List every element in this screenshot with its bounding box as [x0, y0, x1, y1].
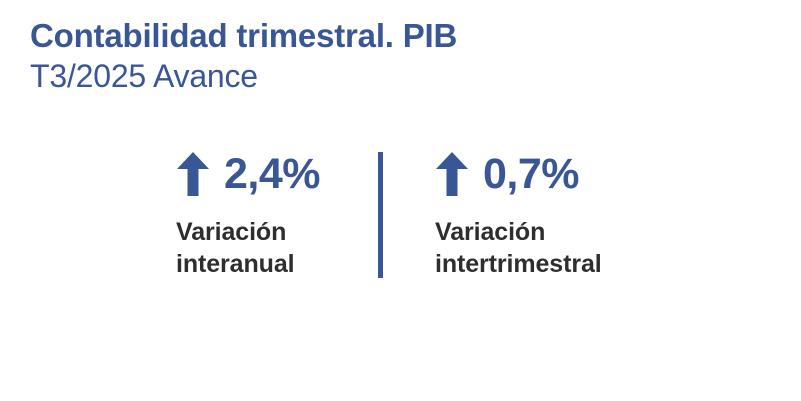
- infographic-page: Contabilidad trimestral. PIB T3/2025 Ava…: [0, 0, 801, 401]
- stat-label-interanual: Variación interanual: [176, 216, 320, 280]
- stat-label-intertrimestral: Variación intertrimestral: [435, 216, 602, 280]
- stat-label-line-2: intertrimestral: [435, 248, 602, 280]
- arrow-up-icon: [435, 151, 469, 197]
- stat-label-line-1: Variación: [176, 216, 320, 248]
- stat-value-intertrimestral: 0,7%: [483, 151, 579, 197]
- page-subtitle: T3/2025 Avance: [30, 56, 770, 96]
- arrow-up-icon: [176, 151, 210, 197]
- stat-value-row: 2,4%: [176, 148, 320, 200]
- stat-label-line-2: interanual: [176, 248, 320, 280]
- stat-label-line-1: Variación: [435, 216, 602, 248]
- stats-divider: [378, 152, 383, 278]
- page-title: Contabilidad trimestral. PIB: [30, 16, 770, 56]
- header: Contabilidad trimestral. PIB T3/2025 Ava…: [30, 16, 770, 96]
- stat-value-row: 0,7%: [435, 148, 602, 200]
- stat-card-intertrimestral: 0,7% Variación intertrimestral: [435, 148, 602, 280]
- stat-card-interanual: 2,4% Variación interanual: [176, 148, 320, 280]
- stats-band: 2,4% Variación interanual 0,7% Variación…: [0, 148, 801, 288]
- stat-value-interanual: 2,4%: [224, 151, 320, 197]
